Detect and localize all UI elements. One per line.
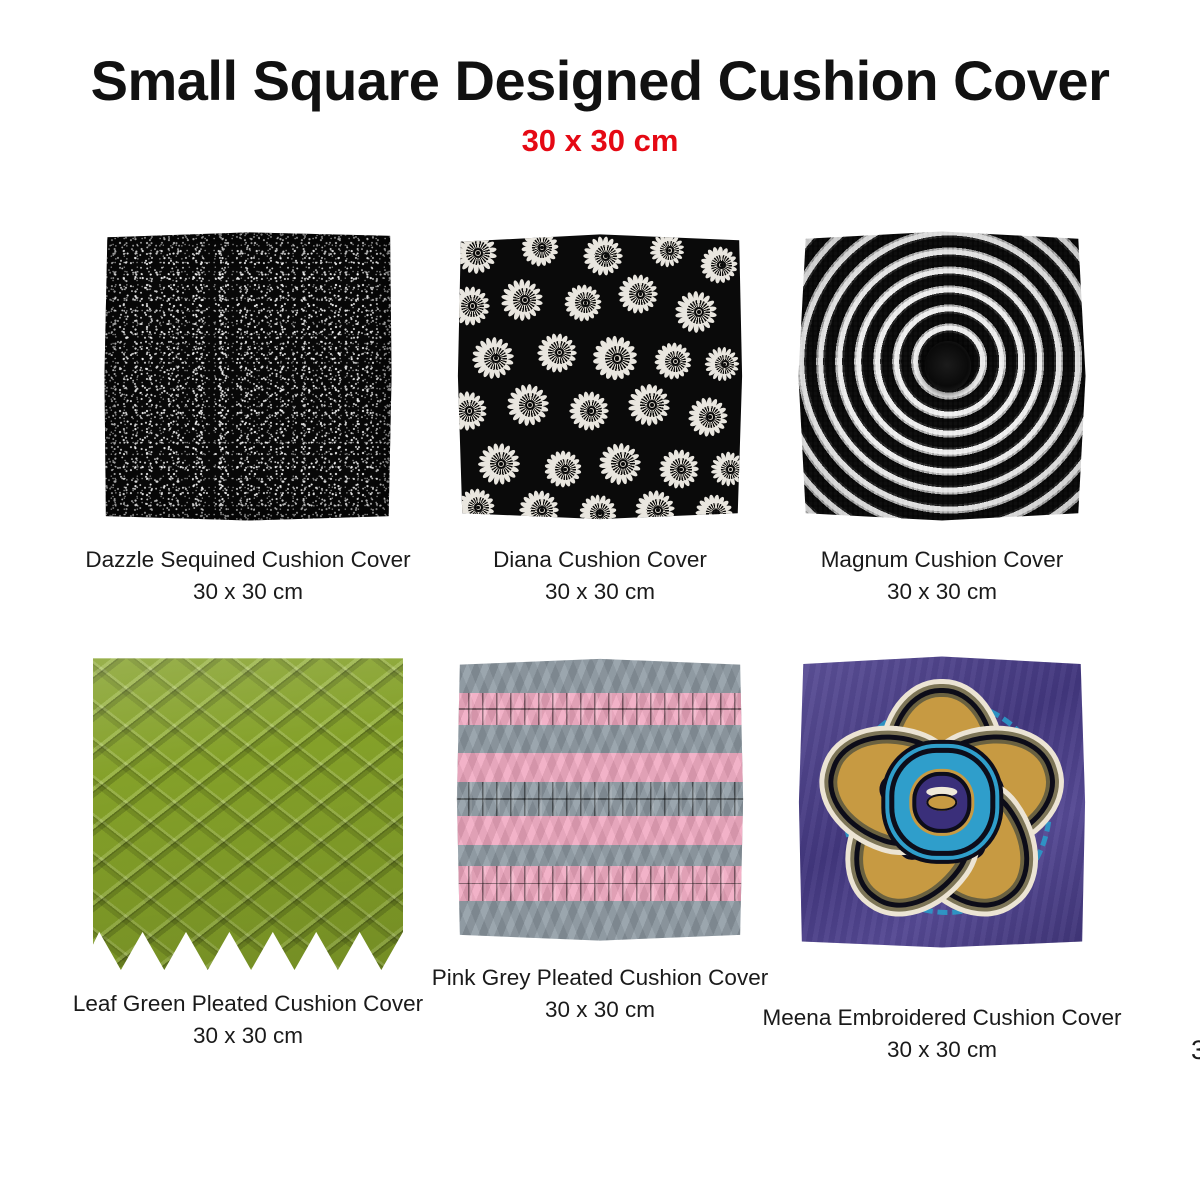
product-image-dazzle-sequined-cushion (103, 230, 393, 522)
diana-medallion (477, 439, 526, 489)
page-header: Small Square Designed Cushion Cover 30 x… (0, 52, 1200, 159)
diana-core (596, 509, 605, 518)
diana-petal (589, 519, 597, 522)
diana-core (677, 465, 686, 474)
diana-medallion (500, 275, 549, 325)
product-image-meena-embroidered-cushion (796, 652, 1088, 952)
diana-medallion (564, 281, 608, 325)
diana-core (587, 406, 596, 415)
product-size-pinkgrey: 30 x 30 cm (410, 994, 790, 1026)
diana-medallion (591, 332, 643, 385)
pinkgrey-band-pink-2 (454, 753, 746, 782)
diana-medallion (710, 449, 745, 490)
product-name-magnum: Magnum Cushion Cover (821, 547, 1064, 572)
diana-core (612, 353, 622, 364)
diana-core (666, 246, 674, 254)
diana-petal (719, 513, 731, 521)
diana-core (694, 307, 704, 317)
product-size-leafgreen: 30 x 30 cm (58, 1020, 438, 1052)
diana-petal (466, 513, 475, 522)
product-name-diana: Diana Cushion Cover (493, 547, 707, 572)
diana-petal (534, 517, 541, 522)
product-card-magnum[interactable]: Magnum Cushion Cover 30 x 30 cm (752, 230, 1132, 608)
diana-medallion (674, 287, 723, 337)
diana-petal (712, 520, 719, 522)
product-grid: Dazzle Sequined Cushion Cover 30 x 30 cm… (0, 230, 1200, 1052)
pinkgrey-band-pink-1 (454, 693, 746, 724)
diana-medallion (704, 344, 745, 385)
diana-medallion (455, 388, 493, 435)
product-size-meena: 30 x 30 cm (752, 1034, 1132, 1066)
diana-petal (472, 514, 478, 522)
diana-core (520, 295, 530, 305)
meena-flower-motif (828, 685, 1056, 919)
diana-medallion (506, 380, 555, 430)
diana-petal (708, 520, 715, 522)
product-image-wrap-magnum (797, 230, 1087, 522)
diana-medallion (578, 491, 622, 522)
product-card-dazzle-sequined[interactable]: Dazzle Sequined Cushion Cover 30 x 30 cm (58, 230, 438, 608)
diana-medallion (536, 329, 582, 376)
diana-petal (598, 519, 606, 522)
product-image-wrap-diana (455, 230, 745, 522)
product-image-wrap-meena (796, 652, 1088, 952)
pinkgrey-band-pink-4 (454, 866, 746, 900)
diana-medallion (617, 271, 663, 318)
diana-medallion (628, 380, 677, 430)
diana-petal (595, 520, 600, 522)
product-image-diana-cushion (455, 230, 745, 522)
diana-core (474, 503, 483, 512)
diana-petal (651, 518, 657, 522)
product-name-pinkgrey: Pink Grey Pleated Cushion Cover (432, 965, 768, 990)
diana-core (561, 465, 570, 474)
product-card-meena-embroidered[interactable]: Meena Embroidered Cushion Cover 30 x 30 … (752, 652, 1132, 1066)
diana-medallion (543, 448, 587, 492)
diana-core (581, 299, 590, 308)
product-name-dazzle: Dazzle Sequined Cushion Cover (85, 547, 410, 572)
diana-core (653, 506, 662, 515)
diana-medallion (471, 334, 520, 384)
diana-medallion (455, 283, 496, 330)
product-image-magnum-cushion (797, 230, 1087, 522)
pinkgrey-band-pink-3 (454, 816, 746, 845)
product-size-magnum: 30 x 30 cm (752, 576, 1132, 608)
diana-core (468, 301, 477, 310)
diana-core (491, 354, 501, 364)
leafgreen-shading (93, 652, 403, 970)
product-row-2: Leaf Green Pleated Cushion Cover 30 x 30… (0, 652, 1200, 1052)
magnum-vignette (797, 230, 1087, 522)
product-card-diana[interactable]: Diana Cushion Cover 30 x 30 cm (410, 230, 790, 608)
diana-core (465, 406, 474, 415)
diana-medallion (599, 439, 648, 489)
diana-medallion (583, 233, 629, 280)
product-size-dazzle: 30 x 30 cm (58, 576, 438, 608)
product-row-1: Dazzle Sequined Cushion Cover 30 x 30 cm… (0, 230, 1200, 630)
diana-petal (527, 516, 537, 522)
diana-core (618, 459, 628, 469)
product-caption-pinkgrey: Pink Grey Pleated Cushion Cover 30 x 30 … (410, 962, 790, 1026)
diana-medallion (519, 487, 565, 522)
product-name-leafgreen: Leaf Green Pleated Cushion Cover (73, 991, 423, 1016)
diana-medallion (456, 486, 500, 523)
diana-core (726, 465, 734, 473)
page-subtitle-size: 30 x 30 cm (0, 123, 1200, 159)
diana-core (496, 459, 506, 469)
product-image-wrap-pinkgrey (454, 656, 746, 942)
meena-center-inner-ring (912, 772, 971, 833)
diana-core (712, 509, 721, 518)
product-caption-meena: Meena Embroidered Cushion Cover 30 x 30 … (752, 1002, 1132, 1066)
diana-core (671, 357, 680, 366)
diana-medallion (568, 388, 614, 435)
product-card-leaf-green-pleated[interactable]: Leaf Green Pleated Cushion Cover 30 x 30… (58, 652, 438, 1052)
diana-petal (655, 517, 663, 522)
diana-medallion (520, 230, 564, 269)
product-image-wrap-dazzle (103, 230, 393, 522)
diana-medallion (455, 230, 503, 278)
product-caption-leafgreen: Leaf Green Pleated Cushion Cover 30 x 30… (58, 988, 438, 1052)
diana-core (706, 412, 715, 421)
diana-petal (475, 514, 483, 522)
clipped-edge-digit: 3 (1191, 1035, 1200, 1066)
product-image-wrap-leafgreen (93, 652, 403, 970)
product-size-diana: 30 x 30 cm (410, 576, 790, 608)
diana-medallion (687, 394, 733, 441)
diana-medallion (700, 243, 744, 287)
diana-petal (698, 516, 710, 522)
product-caption-magnum: Magnum Cushion Cover 30 x 30 cm (752, 544, 1132, 608)
meena-flower-center (894, 753, 990, 851)
diana-petal (538, 517, 545, 522)
diana-medallion (658, 446, 704, 493)
product-caption-diana: Diana Cushion Cover 30 x 30 cm (410, 544, 790, 608)
diana-petal (717, 516, 729, 522)
product-image-leaf-green-pleated-cushion (93, 652, 403, 970)
page-title: Small Square Designed Cushion Cover (0, 52, 1200, 111)
diana-medallion (654, 340, 698, 384)
product-name-meena: Meena Embroidered Cushion Cover (763, 1005, 1122, 1030)
pinkgrey-band-grey-1 (454, 782, 746, 816)
diana-core (537, 506, 546, 515)
product-image-pink-grey-pleated-cushion (454, 656, 746, 942)
diana-medallion (694, 491, 738, 522)
diana-core (636, 290, 645, 299)
leafgreen-top-edge (93, 652, 403, 657)
diana-medallion (649, 230, 690, 271)
meena-center-core (927, 793, 958, 810)
diana-core (538, 243, 547, 252)
product-caption-dazzle: Dazzle Sequined Cushion Cover 30 x 30 cm (58, 544, 438, 608)
diana-petal (702, 518, 712, 522)
diana-petal (715, 518, 725, 522)
product-card-pink-grey-pleated[interactable]: Pink Grey Pleated Cushion Cover 30 x 30 … (410, 656, 790, 1026)
